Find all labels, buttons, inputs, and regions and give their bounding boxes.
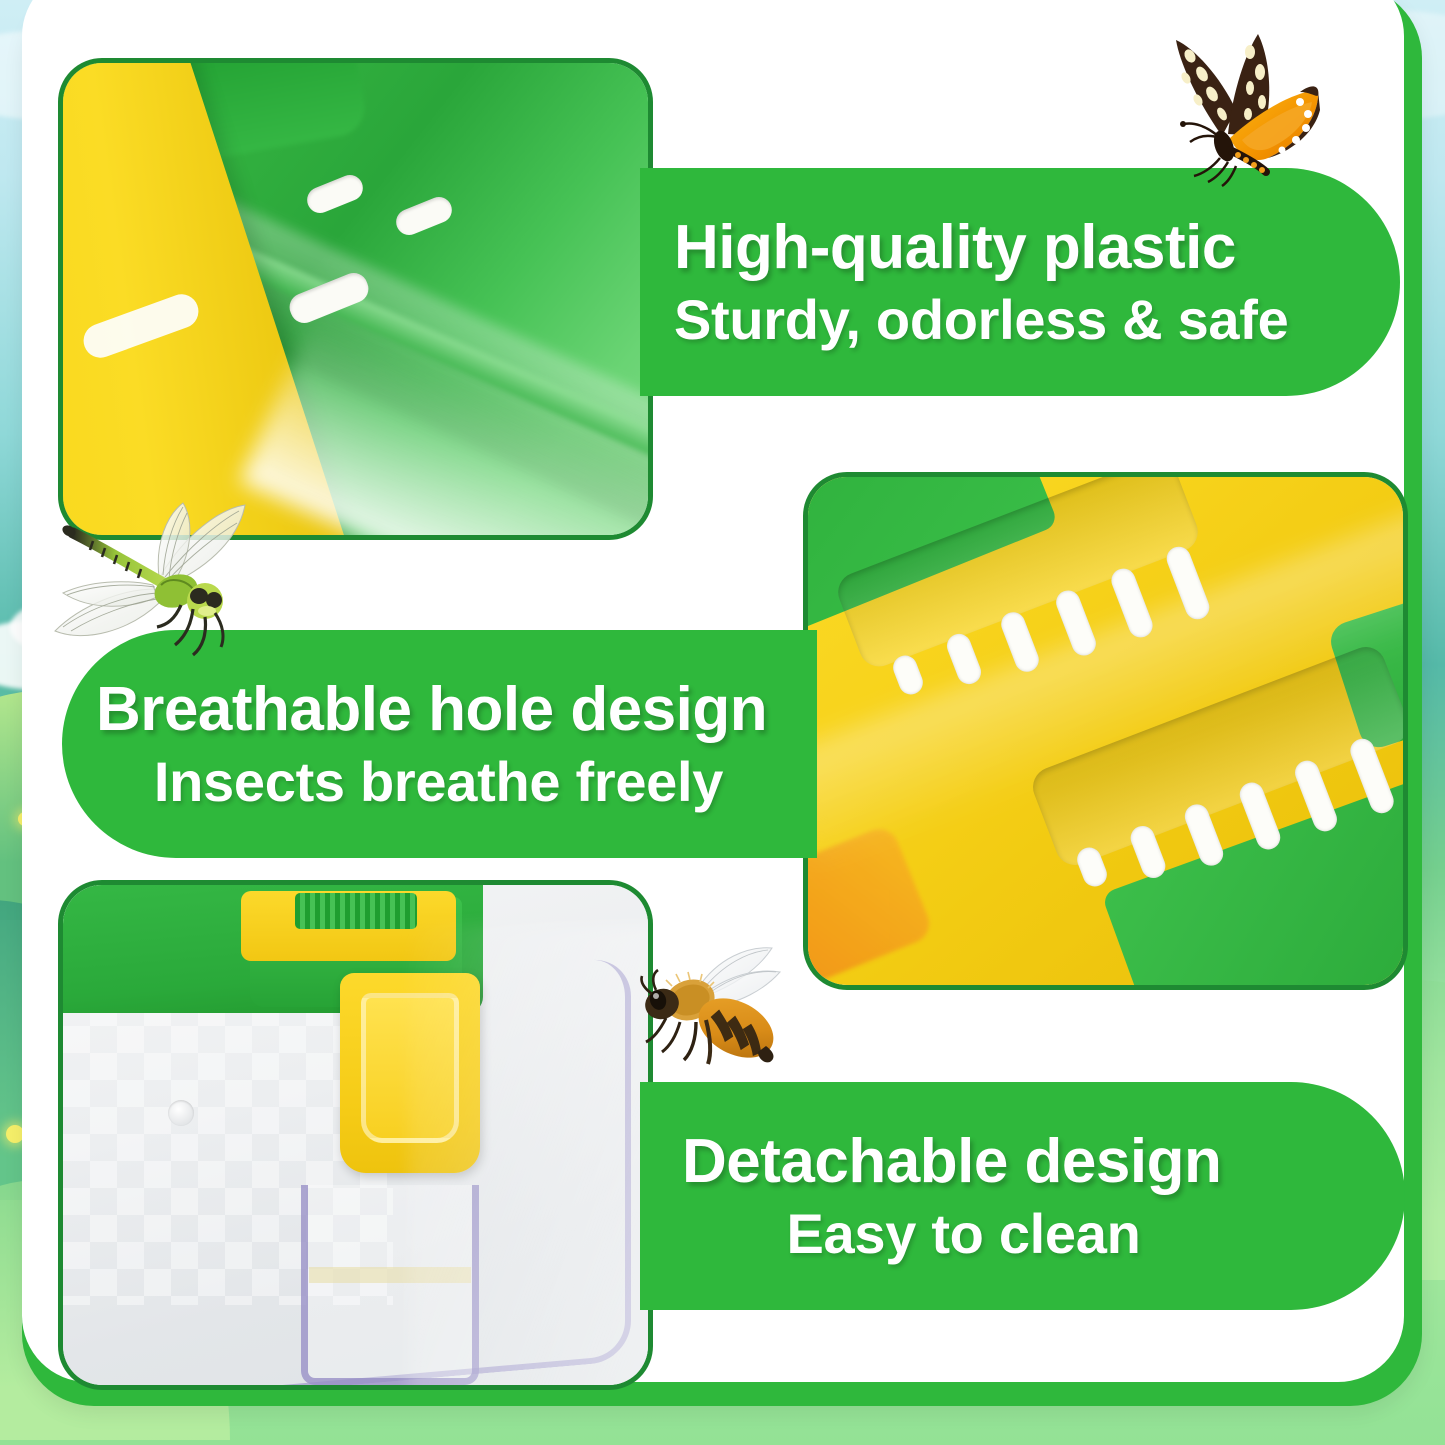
feature-subline: Easy to clean xyxy=(682,1205,1405,1262)
feature-headline: Breathable hole design xyxy=(96,678,817,741)
feature-headline: Detachable design xyxy=(682,1130,1405,1193)
screw-dimple xyxy=(168,1100,194,1126)
feature-subline: Insects breathe freely xyxy=(96,753,817,810)
bee-icon xyxy=(640,942,800,1077)
photo-gloss xyxy=(408,925,653,1390)
butterfly-icon xyxy=(1150,18,1340,193)
feature-headline: High-quality plastic xyxy=(674,216,1400,279)
feature-banner-detachable-design: Detachable design Easy to clean xyxy=(640,1082,1405,1310)
feature-banner-high-quality-plastic: High-quality plastic Sturdy, odorless & … xyxy=(640,168,1400,396)
feature-photo-detachable-design xyxy=(58,880,653,1390)
dragonfly-icon xyxy=(33,497,258,669)
feature-photo-high-quality-plastic xyxy=(58,58,653,540)
latch-grip-ridges xyxy=(295,893,417,929)
feature-photo-breathable-holes xyxy=(803,472,1408,990)
feature-subline: Sturdy, odorless & safe xyxy=(674,291,1400,348)
infographic-stage: High-quality plastic Sturdy, odorless & … xyxy=(0,0,1445,1445)
